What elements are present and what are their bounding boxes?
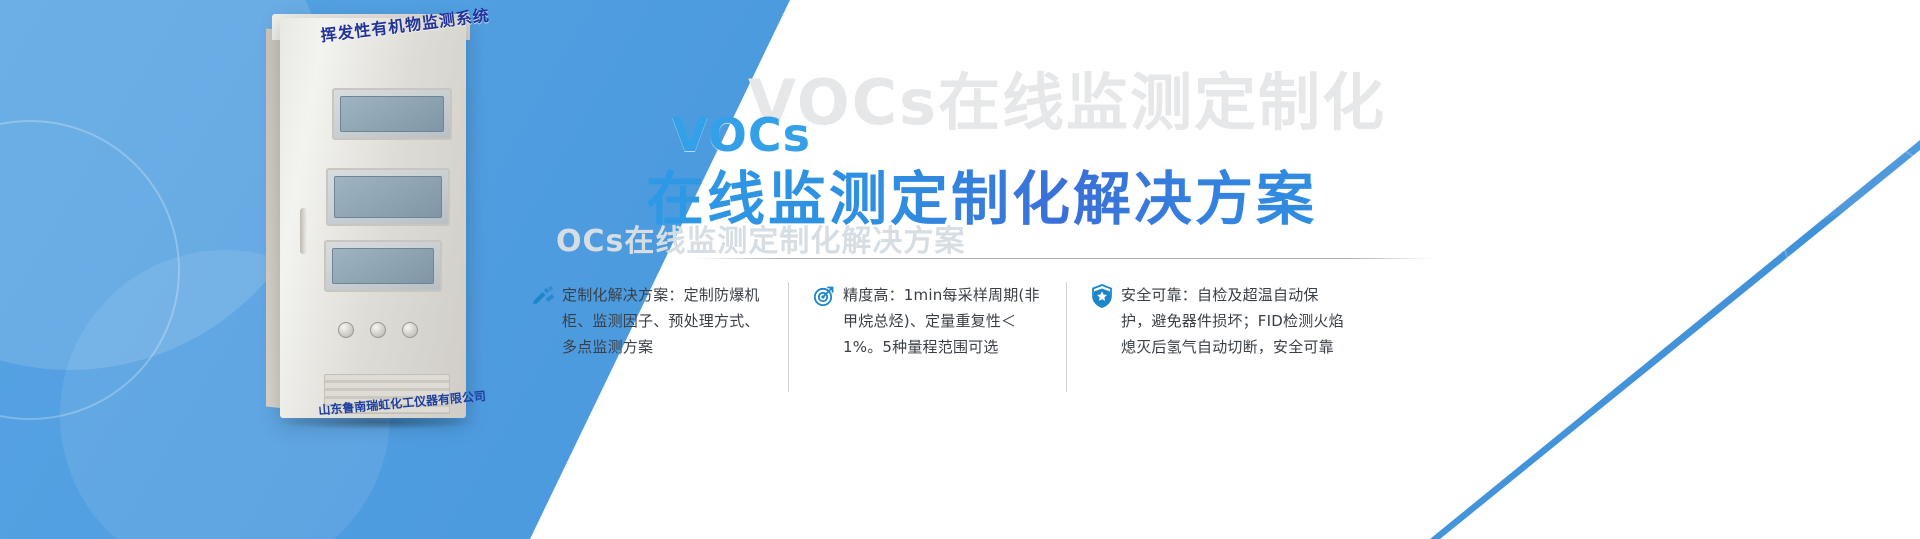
- knob-icon: [338, 322, 354, 338]
- instrument-screen: [334, 176, 442, 218]
- door-handle: [300, 208, 307, 254]
- instrument-screen: [332, 248, 434, 284]
- feature-text: 定制化解决方案：定制防爆机柜、监测因子、预处理方式、多点监测方案: [562, 282, 770, 360]
- instrument-panel: [324, 240, 442, 292]
- instrument-screen: [340, 96, 444, 132]
- pencil-ruler-icon: [530, 283, 556, 309]
- knob-icon: [370, 322, 386, 338]
- product-photo: 挥发性有机物监测系统 山东鲁南瑞虹化工仪器有限公司: [258, 0, 508, 440]
- feature-item-high-precision: 精度高：1min每采样周期(非甲烷总烃)、定量重复性＜1%。5种量程范围可选: [788, 282, 1066, 392]
- promo-banner: 挥发性有机物监测系统 山东鲁南瑞虹化工仪器有限公司 VOCs在线监测定制化 OC…: [0, 0, 1920, 539]
- feature-text: 安全可靠：自检及超温自动保护，避免器件损坏；FID检测火焰熄灭后氢气自动切断，安…: [1121, 282, 1348, 360]
- cabinet-body: [280, 18, 466, 418]
- instrument-panel: [326, 168, 450, 226]
- feature-item-safe-reliable: 安全可靠：自检及超温自动保护，避免器件损坏；FID检测火焰熄灭后氢气自动切断，安…: [1066, 282, 1366, 392]
- target-arrow-icon: [811, 283, 837, 309]
- feature-text: 精度高：1min每采样周期(非甲烷总烃)、定量重复性＜1%。5种量程范围可选: [843, 282, 1048, 360]
- instrument-panel: [332, 88, 452, 140]
- shield-star-icon: [1089, 283, 1115, 309]
- page-title: 在线监测定制化解决方案: [646, 152, 1317, 236]
- watermark-top-text: VOCs在线监测定制化: [748, 52, 1386, 142]
- feature-list: 定制化解决方案：定制防爆机柜、监测因子、预处理方式、多点监测方案 精度高：1mi…: [520, 282, 1580, 392]
- divider: [694, 258, 1434, 259]
- knob-icon: [402, 322, 418, 338]
- control-knobs: [330, 318, 460, 364]
- feature-item-custom-solution: 定制化解决方案：定制防爆机柜、监测因子、预处理方式、多点监测方案: [520, 282, 788, 392]
